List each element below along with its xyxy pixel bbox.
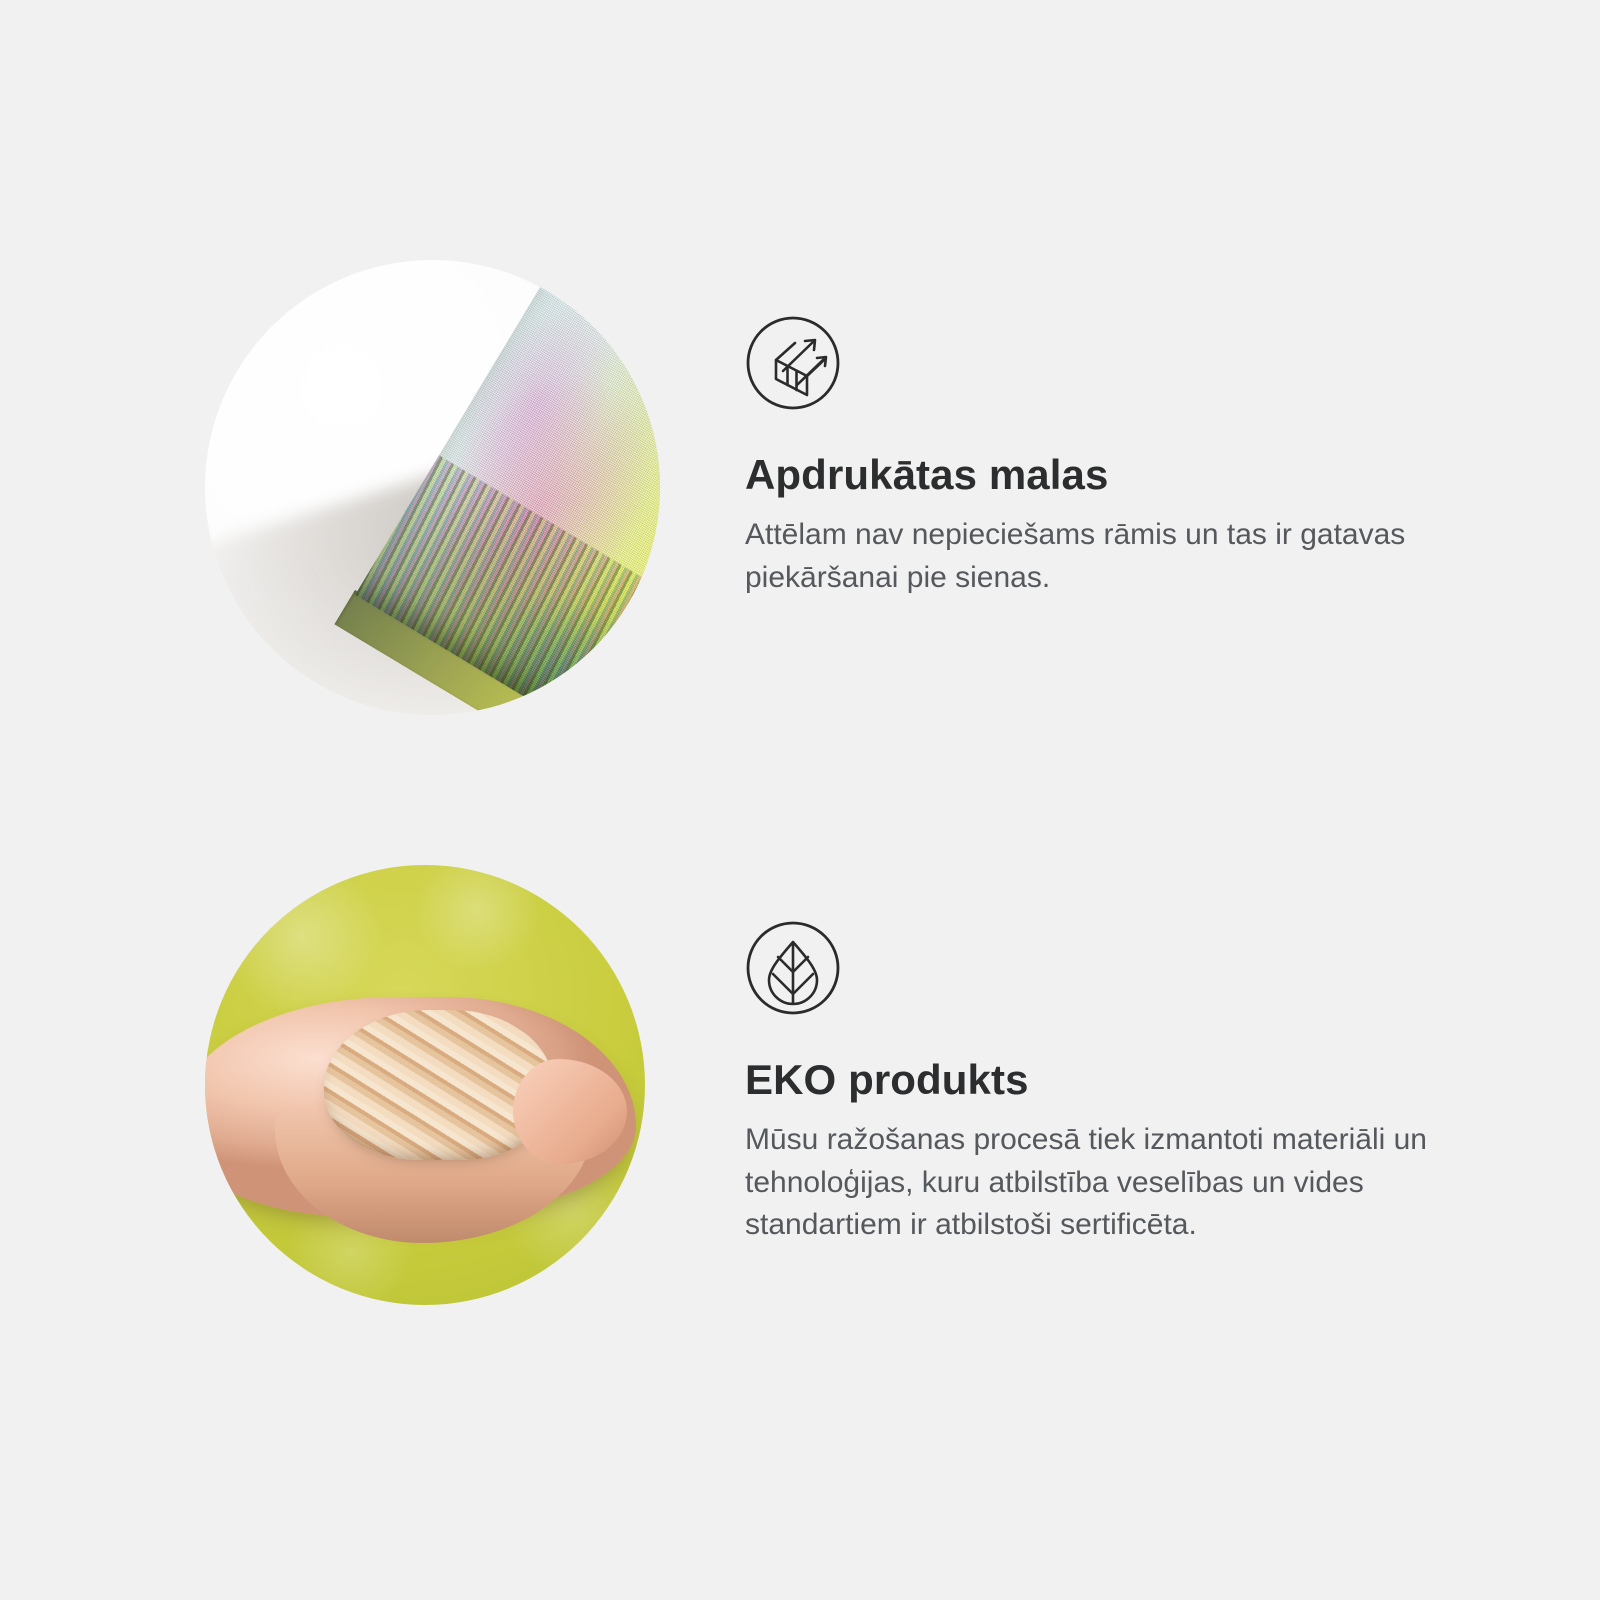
feature-description: Attēlam nav nepieciešams rāmis un tas ir… bbox=[745, 514, 1455, 599]
product-features-page: Apdrukātas malas Attēlam nav nepieciešam… bbox=[0, 0, 1600, 1600]
feature-eco-product: EKO produkts Mūsu ražošanas procesā tiek… bbox=[150, 835, 1455, 1335]
feature-text-printed-edges: Apdrukātas malas Attēlam nav nepieciešam… bbox=[650, 230, 1455, 599]
feature-media-printed-edges bbox=[150, 230, 650, 730]
feature-printed-edges: Apdrukātas malas Attēlam nav nepieciešam… bbox=[150, 230, 1455, 730]
canvas-corner-photo bbox=[205, 260, 660, 715]
feature-text-eco-product: EKO produkts Mūsu ražošanas procesā tiek… bbox=[650, 835, 1455, 1247]
feature-title: EKO produkts bbox=[745, 1056, 1455, 1103]
feature-description: Mūsu ražošanas procesā tiek izmantoti ma… bbox=[745, 1119, 1455, 1247]
feature-media-eco-product bbox=[150, 835, 650, 1335]
wood-chips-in-hands-photo bbox=[205, 865, 645, 1305]
feature-title: Apdrukātas malas bbox=[745, 451, 1455, 498]
printed-edges-icon bbox=[745, 315, 841, 411]
leaf-icon bbox=[745, 920, 841, 1016]
